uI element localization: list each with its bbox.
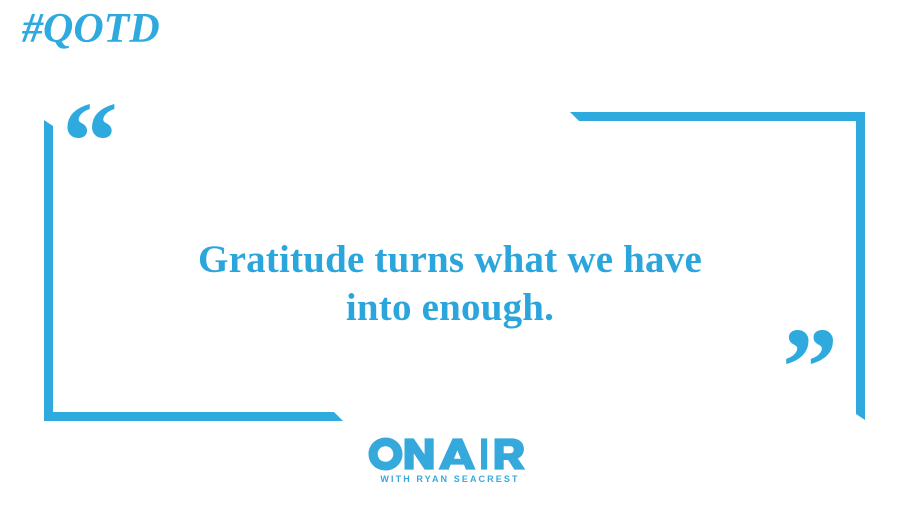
- on-air-logo: WITH RYAN SEACREST: [368, 436, 532, 494]
- on-air-wordmark-icon: [368, 436, 532, 472]
- logo-tagline: WITH RYAN SEACREST: [368, 474, 532, 484]
- quote-line-1: Gratitude turns what we have: [120, 236, 780, 284]
- quote-line-2: into enough.: [120, 284, 780, 332]
- open-quote-icon: “: [62, 86, 116, 198]
- close-quote-icon: ”: [782, 312, 836, 424]
- quote-card: #QOTD “ Gratitude turns what we have int…: [0, 0, 900, 506]
- quote-block: Gratitude turns what we have into enough…: [120, 236, 780, 331]
